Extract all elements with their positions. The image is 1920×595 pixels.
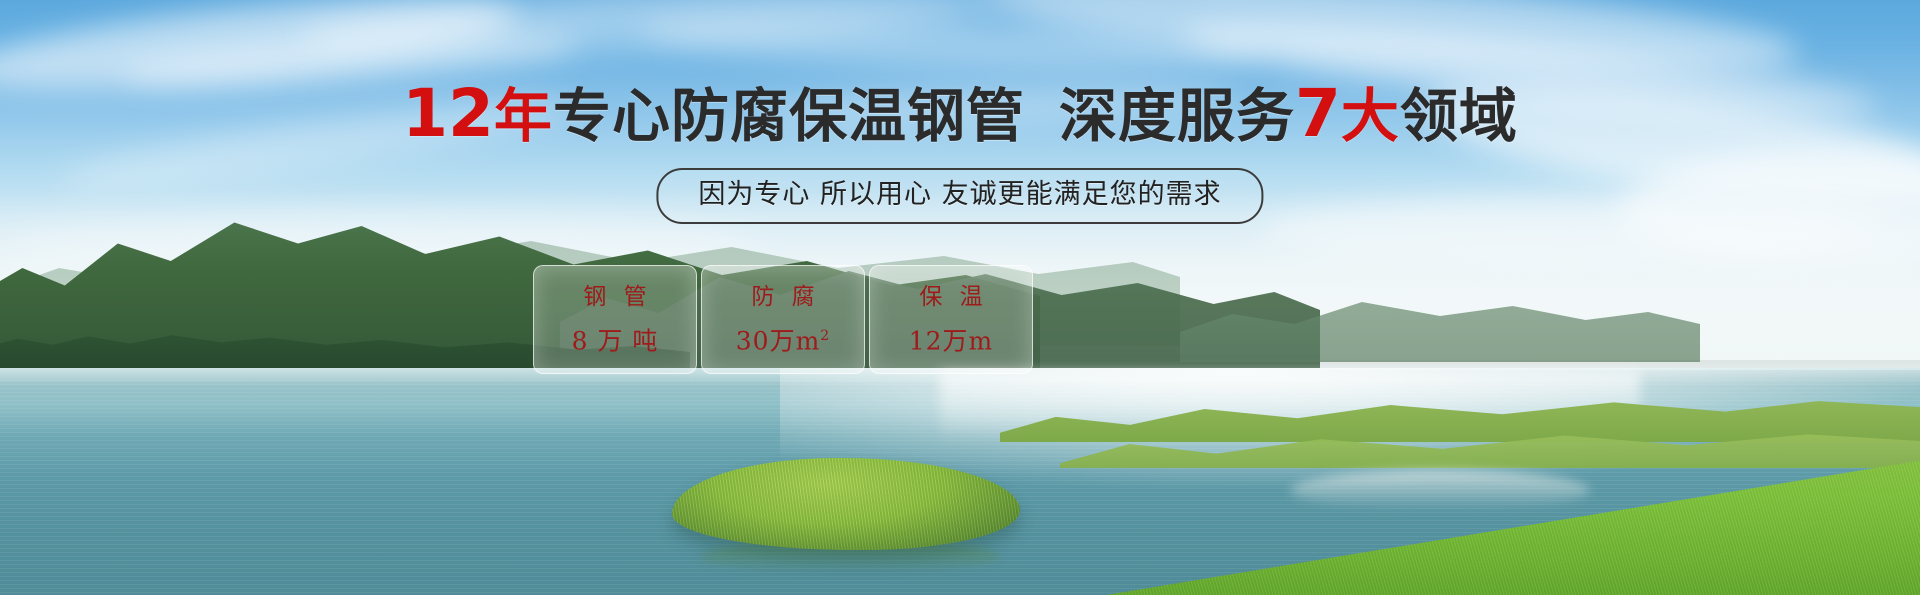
headline-service-phrase: 深度服务 [1059, 82, 1295, 150]
stat-card-insulation[interactable]: 保 温 12万m [869, 265, 1033, 374]
headline-main-phrase: 专心防腐保温钢管 [553, 82, 1025, 150]
stat-card-value: 30万m2 [736, 323, 830, 354]
stat-card-value-text: 8 万 吨 [572, 326, 659, 355]
stat-card-label: 防 腐 [746, 285, 819, 309]
stat-card-value: 12万m [909, 323, 994, 354]
headline-years-unit: 年 [494, 82, 553, 150]
sandbar [1290, 470, 1590, 510]
headline-fields-number: 7 [1295, 75, 1341, 152]
headline-fields-measure: 大 [1341, 82, 1400, 150]
subtitle-pill: 因为专心 所以用心 友诚更能满足您的需求 [656, 168, 1263, 224]
stat-card-value-exponent: 2 [820, 328, 830, 344]
stat-card-value-text: 30万m [736, 326, 821, 355]
stat-card-value: 8 万 吨 [572, 323, 659, 354]
stat-card-group: 钢 管 8 万 吨 防 腐 30万m2 保 温 12万m [533, 265, 1033, 374]
hero-banner: 12年专心防腐保温钢管深度服务7大领域 因为专心 所以用心 友诚更能满足您的需求… [0, 0, 1920, 595]
stat-card-value-text: 12万m [909, 326, 994, 355]
subtitle-text: 因为专心 所以用心 友诚更能满足您的需求 [698, 178, 1221, 212]
stat-card-anticorrosion[interactable]: 防 腐 30万m2 [701, 265, 865, 374]
stat-card-label: 保 温 [914, 285, 987, 309]
headline-years-number: 12 [402, 75, 494, 152]
banner-headline: 12年专心防腐保温钢管深度服务7大领域 [0, 82, 1920, 148]
stat-card-label: 钢 管 [578, 285, 651, 309]
stat-card-steel-pipe[interactable]: 钢 管 8 万 吨 [533, 265, 697, 374]
headline-fields-noun: 领域 [1400, 82, 1518, 150]
